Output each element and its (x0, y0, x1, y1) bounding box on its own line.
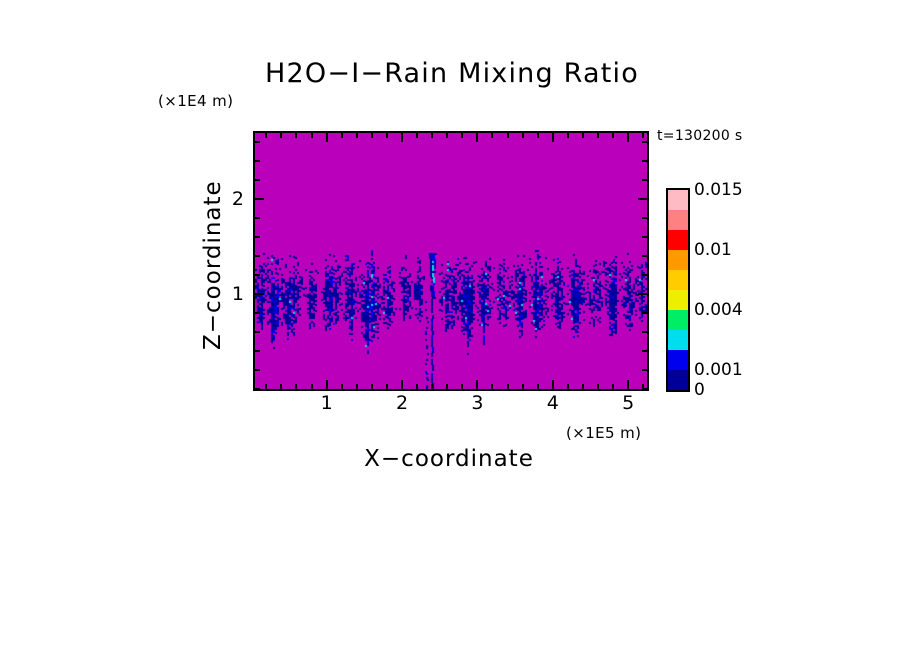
axis-tick (416, 384, 418, 389)
axis-tick (552, 380, 554, 389)
axis-tick (431, 384, 433, 389)
axis-tick (642, 331, 647, 333)
colorbar-band (668, 330, 688, 350)
axis-tick (582, 133, 584, 138)
colorbar-band (668, 310, 688, 330)
colorbar-tick-label: 0 (694, 380, 705, 400)
axis-tick (311, 384, 313, 389)
axis-tick (341, 133, 343, 138)
axis-tick (280, 133, 282, 138)
axis-tick (491, 133, 493, 138)
axis-tick (642, 369, 647, 371)
axis-tick (341, 384, 343, 389)
axis-tick (326, 133, 328, 142)
axis-tick (255, 312, 260, 314)
x-axis-title: X−coordinate (253, 446, 645, 472)
axis-tick (476, 380, 478, 389)
axis-tick (255, 141, 260, 143)
axis-tick (371, 133, 373, 138)
axis-tick (537, 133, 539, 138)
axis-tick (255, 388, 260, 390)
axis-tick (627, 380, 629, 389)
axis-tick (567, 384, 569, 389)
axis-tick (431, 133, 433, 138)
axis-tick (461, 133, 463, 138)
y-tick-label: 2 (204, 188, 244, 210)
axis-tick (446, 133, 448, 138)
axis-tick (582, 384, 584, 389)
axis-tick (295, 133, 297, 138)
axis-tick (597, 133, 599, 138)
axis-tick (597, 384, 599, 389)
axis-tick (255, 236, 260, 238)
axis-tick (265, 384, 267, 389)
axis-tick (522, 384, 524, 389)
axis-tick (476, 133, 478, 142)
colorbar-band (668, 290, 688, 310)
axis-tick (280, 384, 282, 389)
axis-tick (537, 384, 539, 389)
heatmap-field (255, 133, 647, 389)
axis-tick (255, 274, 260, 276)
colorbar-tick-label: 0.015 (694, 180, 743, 200)
axis-tick (255, 293, 264, 295)
colorbar-band (668, 370, 688, 390)
axis-tick (255, 369, 260, 371)
colorbar-band (668, 190, 688, 210)
colorbar (666, 188, 690, 392)
colorbar-tick-label: 0.01 (694, 240, 732, 260)
axis-tick (371, 384, 373, 389)
x-axis-units-label: (×1E5 m) (566, 424, 641, 442)
axis-tick (255, 350, 260, 352)
axis-tick (612, 384, 614, 389)
colorbar-tick-label: 0.004 (694, 300, 743, 320)
axis-tick (416, 133, 418, 138)
colorbar-band (668, 230, 688, 250)
axis-tick (255, 217, 260, 219)
axis-tick (356, 384, 358, 389)
figure-canvas: H2O−I−Rain Mixing Ratio (×1E4 m) t=13020… (0, 0, 904, 654)
axis-tick (446, 384, 448, 389)
axis-tick (627, 133, 629, 142)
colorbar-band (668, 210, 688, 230)
page-title: H2O−I−Rain Mixing Ratio (0, 58, 904, 89)
axis-tick (638, 198, 647, 200)
axis-tick (642, 160, 647, 162)
axis-tick (642, 133, 644, 138)
colorbar-band (668, 250, 688, 270)
axis-tick (642, 236, 647, 238)
axis-tick (642, 274, 647, 276)
colorbar-tick-label: 0.001 (694, 360, 743, 380)
x-tick-label: 1 (321, 392, 333, 414)
axis-tick (295, 384, 297, 389)
axis-tick (642, 217, 647, 219)
x-tick-label: 2 (396, 392, 408, 414)
axis-tick (356, 133, 358, 138)
axis-tick (638, 293, 647, 295)
axis-tick (326, 380, 328, 389)
axis-tick (552, 133, 554, 142)
time-annotation: t=130200 s (657, 128, 742, 144)
axis-tick (311, 133, 313, 138)
y-axis-units-label: (×1E4 m) (158, 92, 233, 110)
axis-tick (255, 331, 260, 333)
axis-tick (386, 133, 388, 138)
axis-tick (386, 384, 388, 389)
y-tick-label: 1 (204, 283, 244, 305)
axis-tick (401, 133, 403, 142)
colorbar-band (668, 350, 688, 370)
axis-tick (491, 384, 493, 389)
colorbar-band (668, 270, 688, 290)
axis-tick (612, 133, 614, 138)
axis-tick (507, 384, 509, 389)
axis-tick (255, 255, 260, 257)
axis-tick (642, 255, 647, 257)
plot-area (253, 131, 649, 391)
axis-tick (642, 350, 647, 352)
axis-tick (522, 133, 524, 138)
axis-tick (265, 133, 267, 138)
axis-tick (567, 133, 569, 138)
axis-tick (507, 133, 509, 138)
x-tick-label: 4 (547, 392, 559, 414)
axis-tick (255, 198, 264, 200)
x-tick-label: 5 (622, 392, 634, 414)
axis-tick (642, 388, 647, 390)
x-tick-label: 3 (471, 392, 483, 414)
axis-tick (255, 179, 260, 181)
axis-tick (642, 312, 647, 314)
axis-tick (255, 160, 260, 162)
axis-tick (642, 141, 647, 143)
axis-tick (401, 380, 403, 389)
axis-tick (461, 384, 463, 389)
axis-tick (642, 179, 647, 181)
